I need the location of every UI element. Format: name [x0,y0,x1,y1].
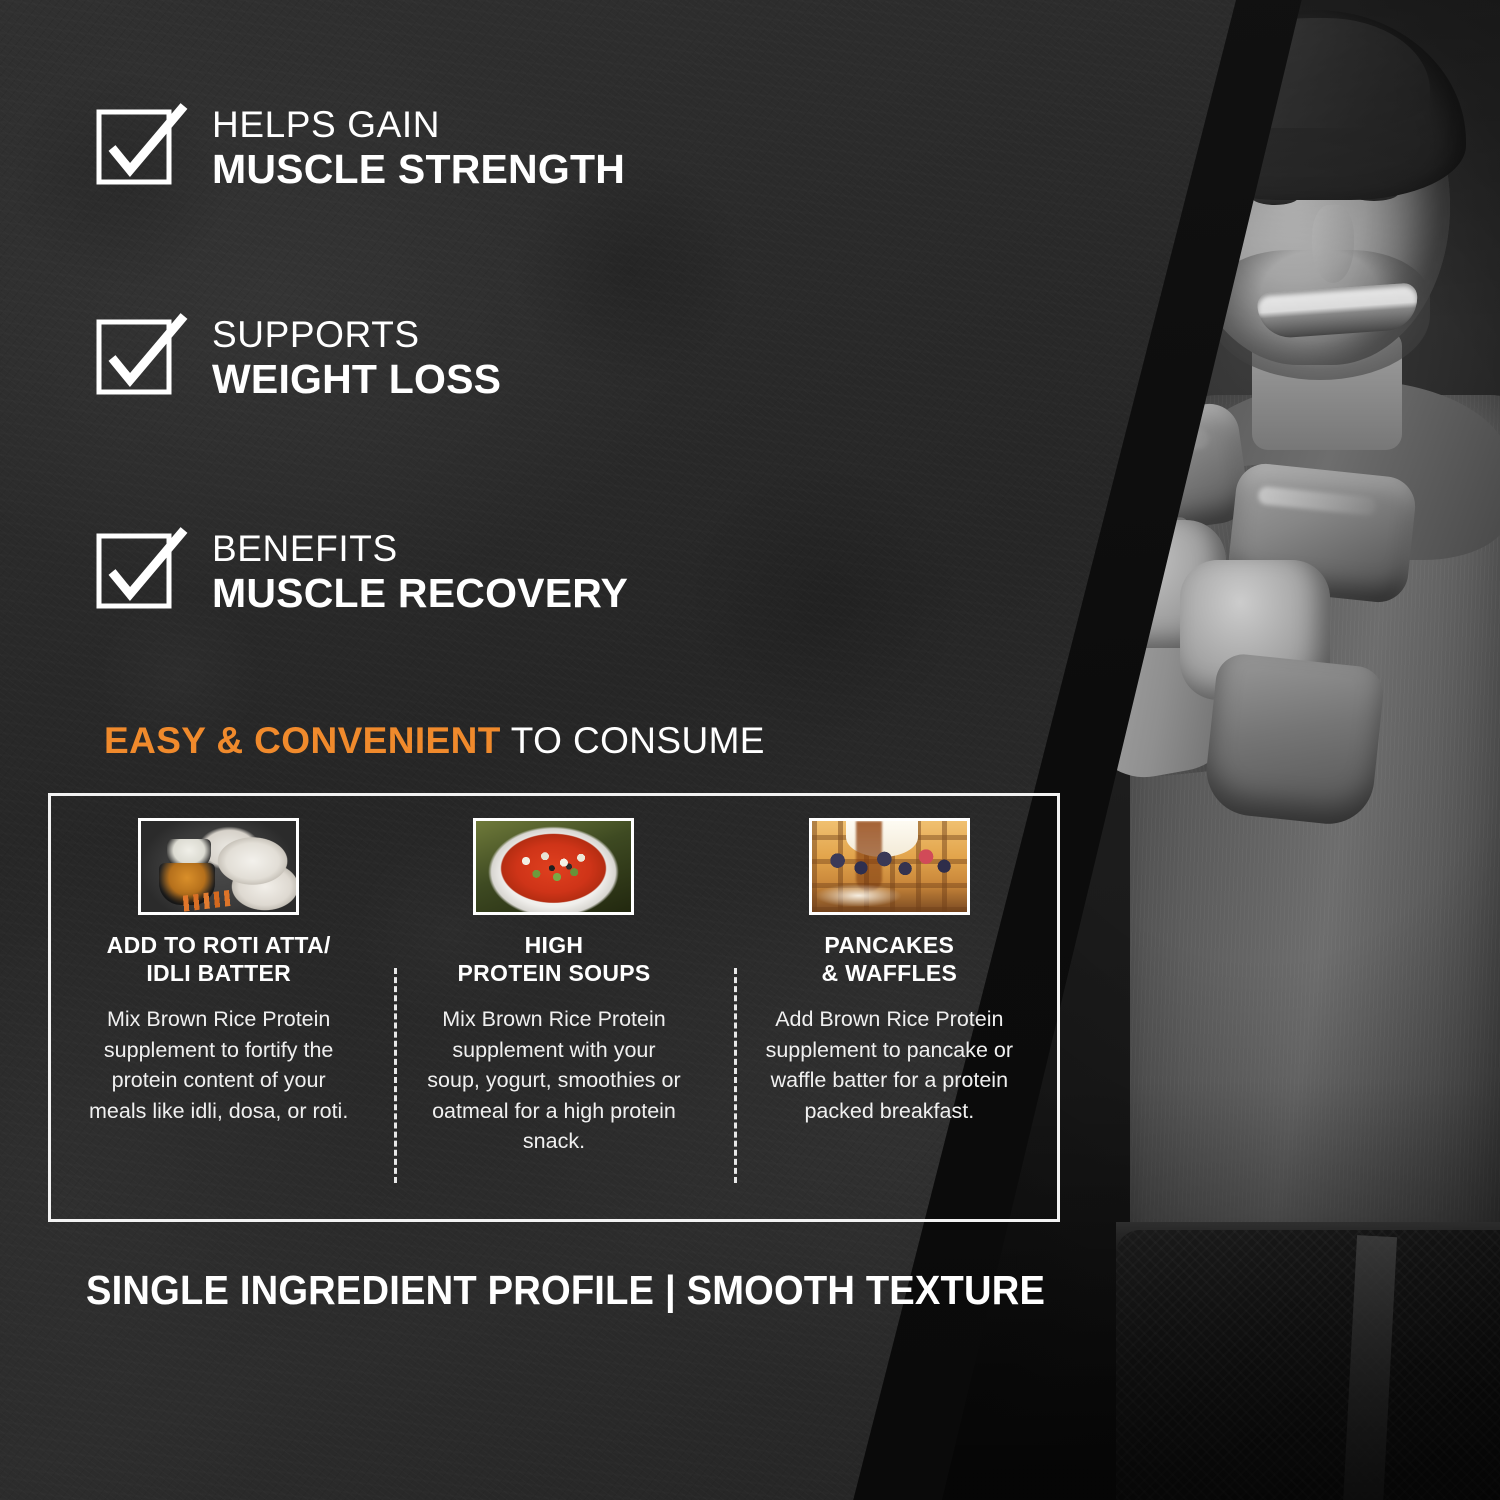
bottom-tagline: SINGLE INGREDIENT PROFILE | SMOOTH TEXTU… [86,1267,1045,1314]
benefit-item-weight-loss: SUPPORTS WEIGHT LOSS [96,314,501,403]
benefit-item-muscle-recovery: BENEFITS MUSCLE RECOVERY [96,528,628,617]
benefit-line-2: MUSCLE RECOVERY [212,571,628,617]
infographic-canvas: HELPS GAIN MUSCLE STRENGTH SUPPORTS WEIG… [0,0,1500,1500]
benefit-text: SUPPORTS WEIGHT LOSS [212,314,501,403]
idli-plate-photo [138,818,299,915]
checkbox-checked-icon [96,314,178,396]
easy-convenient-heading: EASY & CONVENIENT TO CONSUME [104,722,765,759]
usage-title: HIGH PROTEIN SOUPS [457,932,650,987]
benefit-line-2: MUSCLE STRENGTH [212,147,625,193]
benefit-line-1: HELPS GAIN [212,106,625,144]
benefit-text: HELPS GAIN MUSCLE STRENGTH [212,104,625,193]
usage-body: Add Brown Rice Protein supplement to pan… [759,1004,1019,1126]
soup-garnish [514,849,600,889]
waffles-photo [809,818,970,915]
benefit-item-muscle-strength: HELPS GAIN MUSCLE STRENGTH [96,104,625,193]
benefit-line-1: BENEFITS [212,530,628,568]
cream-layer [812,880,967,906]
idli-plate-image [141,821,296,912]
usage-body: Mix Brown Rice Protein supplement with y… [424,1004,684,1157]
usage-column-protein-soups: HIGH PROTEIN SOUPS Mix Brown Rice Protei… [386,796,721,1219]
usage-title: PANCAKES & WAFFLES [822,932,958,987]
usage-body: Mix Brown Rice Protein supplement to for… [89,1004,349,1126]
berries [822,843,952,883]
benefit-line-2: WEIGHT LOSS [212,357,501,403]
usage-column-pancakes-waffles: PANCAKES & WAFFLES Add Brown Rice Protei… [722,796,1057,1219]
usage-ideas-box: ADD TO ROTI ATTA/ IDLI BATTER Mix Brown … [48,793,1060,1222]
usage-title: ADD TO ROTI ATTA/ IDLI BATTER [107,932,331,987]
heading-accent-text: EASY & CONVENIENT [104,720,501,761]
usage-column-roti-idli: ADD TO ROTI ATTA/ IDLI BATTER Mix Brown … [51,796,386,1219]
heading-plain-text: TO CONSUME [501,720,765,761]
checkbox-checked-icon [96,104,178,186]
benefit-text: BENEFITS MUSCLE RECOVERY [212,528,628,617]
tomato-soup-photo [473,818,634,915]
tomato-soup-image [476,821,631,912]
checkbox-checked-icon [96,528,178,610]
benefit-line-1: SUPPORTS [212,316,501,354]
waffles-image [812,821,967,912]
